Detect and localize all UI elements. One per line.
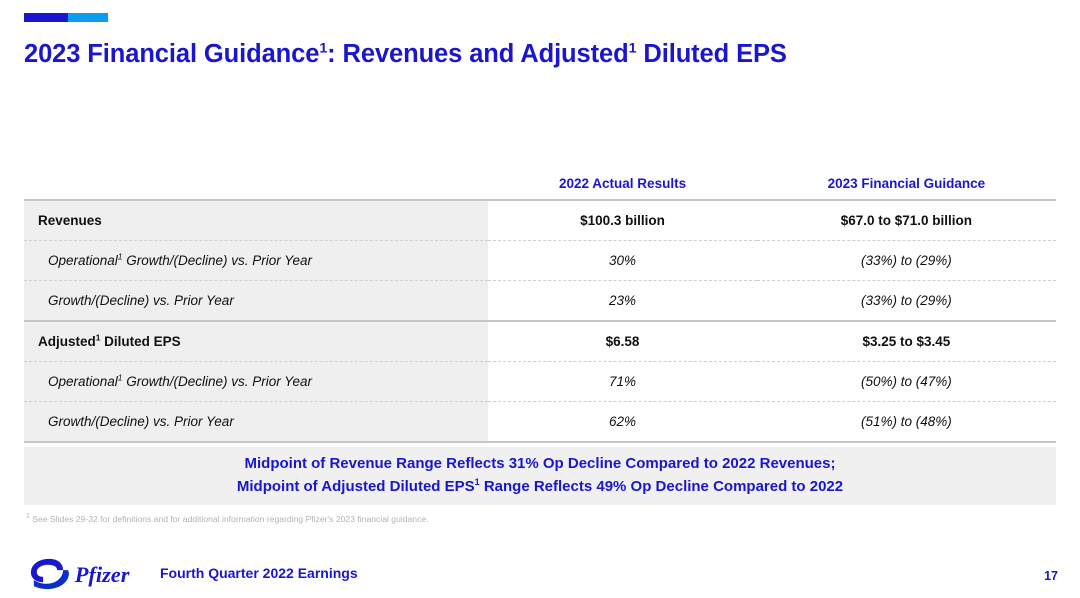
- page-number: 17: [1044, 569, 1058, 583]
- row-label-text-cont: Diluted EPS: [100, 334, 180, 349]
- callout-line-2-text: Midpoint of Adjusted Diluted EPS: [237, 478, 475, 495]
- cell-eps-2023: $3.25 to $3.45: [757, 321, 1056, 362]
- page-title-part3: Diluted EPS: [636, 40, 786, 68]
- table-row: Growth/(Decline) vs. Prior Year 23% (33%…: [24, 281, 1056, 322]
- cell-eps-growth-2023: (51%) to (48%): [757, 402, 1056, 443]
- table-row: Adjusted1 Diluted EPS $6.58 $3.25 to $3.…: [24, 321, 1056, 362]
- table-row: Revenues $100.3 billion $67.0 to $71.0 b…: [24, 200, 1056, 241]
- accent-bar: [24, 13, 108, 22]
- cell-revenues-2022: $100.3 billion: [488, 200, 756, 241]
- page-title-superscript-1: 1: [319, 41, 327, 57]
- financial-guidance-table: 2022 Actual Results 2023 Financial Guida…: [24, 176, 1056, 443]
- row-label-eps-operational-growth: Operational1 Growth/(Decline) vs. Prior …: [24, 362, 488, 402]
- accent-bar-light-segment: [68, 13, 108, 22]
- accent-bar-dark-segment: [24, 13, 68, 22]
- table-body: Revenues $100.3 billion $67.0 to $71.0 b…: [24, 200, 1056, 442]
- pfizer-logo-mark-hole: [44, 568, 57, 577]
- row-label-text: Growth/(Decline) vs. Prior Year: [48, 414, 234, 429]
- row-label-revenues-growth: Growth/(Decline) vs. Prior Year: [24, 281, 488, 322]
- cell-revenues-operational-growth-2022: 30%: [488, 241, 756, 281]
- cell-revenues-operational-growth-2023: (33%) to (29%): [757, 241, 1056, 281]
- pfizer-logo-wordmark: Pfizer: [74, 562, 130, 587]
- row-label-text-cont: Growth/(Decline) vs. Prior Year: [122, 374, 312, 389]
- column-header-2022-actual-results: 2022 Actual Results: [488, 176, 756, 200]
- row-label-revenues-operational-growth: Operational1 Growth/(Decline) vs. Prior …: [24, 241, 488, 281]
- callout-line-2-text-cont: Range Reflects 49% Op Decline Compared t…: [480, 478, 843, 495]
- cell-eps-2022: $6.58: [488, 321, 756, 362]
- cell-eps-operational-growth-2022: 71%: [488, 362, 756, 402]
- financial-guidance-table-container: 2022 Actual Results 2023 Financial Guida…: [24, 176, 1056, 443]
- row-label-eps-growth: Growth/(Decline) vs. Prior Year: [24, 402, 488, 443]
- row-label-revenues: Revenues: [24, 200, 488, 241]
- row-label-text: Operational: [48, 253, 118, 268]
- footnote-text: See Slides 29-32 for definitions and for…: [30, 514, 429, 524]
- pfizer-logo: Pfizer: [28, 553, 140, 593]
- footnote: 1 See Slides 29-32 for definitions and f…: [26, 514, 429, 524]
- cell-revenues-2023: $67.0 to $71.0 billion: [757, 200, 1056, 241]
- callout-line-1: Midpoint of Revenue Range Reflects 31% O…: [245, 453, 836, 476]
- cell-revenues-growth-2022: 23%: [488, 281, 756, 322]
- table-row: Operational1 Growth/(Decline) vs. Prior …: [24, 241, 1056, 281]
- table-header-row: 2022 Actual Results 2023 Financial Guida…: [24, 176, 1056, 200]
- table-row: Growth/(Decline) vs. Prior Year 62% (51%…: [24, 402, 1056, 443]
- row-label-text: Adjusted: [38, 334, 96, 349]
- cell-revenues-growth-2023: (33%) to (29%): [757, 281, 1056, 322]
- callout-line-2: Midpoint of Adjusted Diluted EPS1 Range …: [237, 476, 843, 499]
- row-label-adjusted-diluted-eps: Adjusted1 Diluted EPS: [24, 321, 488, 362]
- page-title: 2023 Financial Guidance1: Revenues and A…: [24, 40, 787, 69]
- column-header-2023-financial-guidance: 2023 Financial Guidance: [757, 176, 1056, 200]
- footer-caption: Fourth Quarter 2022 Earnings: [160, 565, 358, 581]
- row-label-text: Growth/(Decline) vs. Prior Year: [48, 293, 234, 308]
- page-title-part1: 2023 Financial Guidance: [24, 40, 319, 68]
- row-label-text: Operational: [48, 374, 118, 389]
- cell-eps-growth-2022: 62%: [488, 402, 756, 443]
- cell-eps-operational-growth-2023: (50%) to (47%): [757, 362, 1056, 402]
- page-title-part2: : Revenues and Adjusted: [327, 40, 628, 68]
- row-label-text-cont: Growth/(Decline) vs. Prior Year: [122, 253, 312, 268]
- column-header-label: [24, 176, 488, 200]
- table-header: 2022 Actual Results 2023 Financial Guida…: [24, 176, 1056, 200]
- midpoint-callout-banner: Midpoint of Revenue Range Reflects 31% O…: [24, 447, 1056, 505]
- table-row: Operational1 Growth/(Decline) vs. Prior …: [24, 362, 1056, 402]
